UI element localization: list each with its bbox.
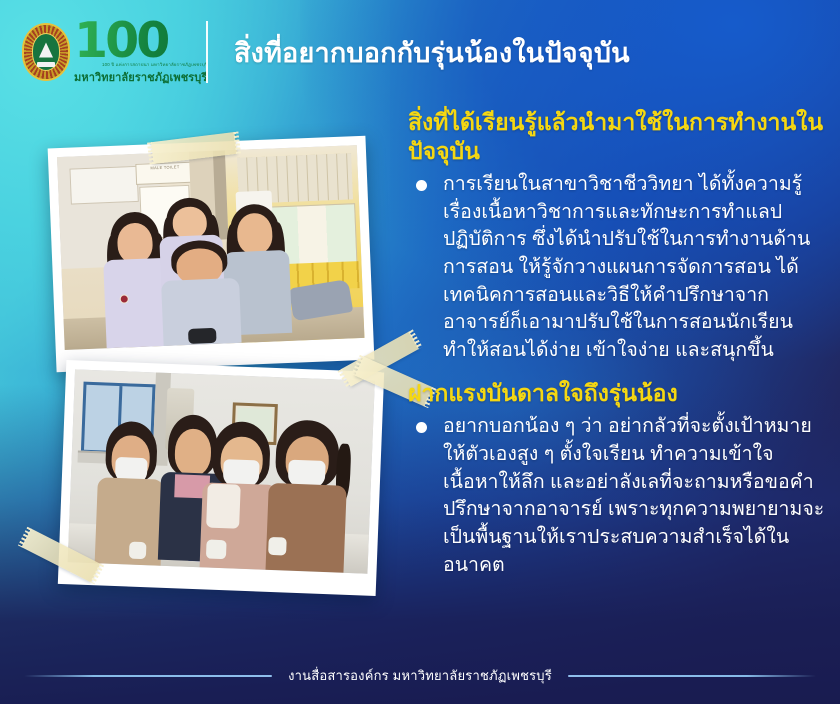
content-column: สิ่งที่ได้เรียนรู้แล้วนำมาใช้ในการทำงานใ… [408,108,828,579]
logo-university-name: มหาวิทยาลัยราชภัฏเพชรบุรี [74,68,207,86]
photo-classroom-image: MALE TOILET [57,145,365,350]
section-2-bullet-row: อยากบอกน้อง ๆ ว่า อย่ากลัวที่จะตั้งเป้าห… [408,413,828,579]
toilet-sign-text: MALE TOILET [135,161,195,185]
poster-footer: งานสื่อสารองค์กร มหาวิทยาลัยราชภัฏเพชรบุ… [0,665,840,686]
university-seal-icon [22,23,70,81]
page-title: สิ่งที่อยากบอกกับรุ่นน้องในปัจจุบัน [234,31,630,74]
laboratory-scene [68,369,375,573]
photo-card-laboratory [58,360,384,596]
logo-text-group: 100 100 ปี แห่งการสถาปนา มหาวิทยาลัยราชภ… [74,18,207,86]
footer-divider-left [24,675,272,677]
lab-person-figure [266,419,350,572]
university-logo: 100 100 ปี แห่งการสถาปนา มหาวิทยาลัยราชภ… [22,18,192,86]
poster-canvas: 100 100 ปี แห่งการสถาปนา มหาวิทยาลัยราชภ… [0,0,840,704]
bullet-dot-icon [416,422,427,433]
classroom-scene: MALE TOILET [57,145,365,350]
student-figure [159,239,241,346]
photo-card-classroom: MALE TOILET [48,136,375,373]
lab-person-figure [95,420,166,565]
poster-header: 100 100 ปี แห่งการสถาปนา มหาวิทยาลัยราชภ… [0,0,840,104]
section-2-heading: ฝากแรงบันดาลใจถึงรุ่นน้อง [408,379,828,408]
logo-centenary-numeral: 100 [74,18,207,63]
section-1-heading: สิ่งที่ได้เรียนรู้แล้วนำมาใช้ในการทำงานใ… [408,108,828,165]
footer-divider-right [568,675,816,677]
section-1-bullet-text: การเรียนในสาขาวิชาชีววิทยา ได้ทั้งความรู… [443,171,828,365]
bullet-dot-icon [416,180,427,191]
footer-credit-text: งานสื่อสารองค์กร มหาวิทยาลัยราชภัฏเพชรบุ… [288,665,552,686]
header-divider [206,21,208,83]
section-1-bullet-row: การเรียนในสาขาวิชาชีววิทยา ได้ทั้งความรู… [408,171,828,365]
section-2-bullet-text: อยากบอกน้อง ๆ ว่า อย่ากลัวที่จะตั้งเป้าห… [443,413,828,579]
photo-laboratory-image [68,369,375,573]
